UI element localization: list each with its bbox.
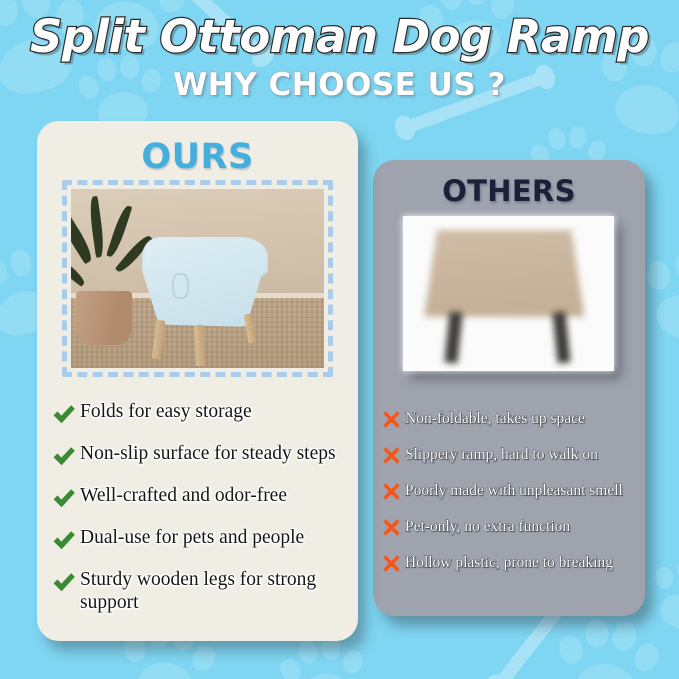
ours-heading: OURS xyxy=(37,137,358,177)
list-item: Folds for easy storage xyxy=(51,400,348,428)
list-item-label: Hollow plastic, prone to breaking xyxy=(405,551,613,572)
list-item: Slippery ramp, hard to walk on xyxy=(381,443,639,466)
page-subtitle: WHY CHOOSE US ? xyxy=(0,70,679,101)
page-title: Split Ottoman Dog Ramp xyxy=(0,14,679,59)
list-item: Non-slip surface for steady steps xyxy=(51,442,348,470)
check-mark-icon xyxy=(51,526,77,554)
list-item: Sturdy wooden legs for strong support xyxy=(51,568,348,614)
list-item-label: Slippery ramp, hard to walk on xyxy=(405,443,598,464)
check-mark-icon xyxy=(51,568,77,596)
list-item: Well-crafted and odor-free xyxy=(51,484,348,512)
list-item-label: Non-foldable, takes up space xyxy=(405,407,585,428)
others-ottoman-body xyxy=(424,230,584,317)
ours-panel: OURS xyxy=(37,121,358,641)
others-product-photo xyxy=(403,216,614,371)
list-item: Hollow plastic, prone to breaking xyxy=(381,551,639,574)
list-item: Non-foldable, takes up space xyxy=(381,407,639,430)
list-item-label: Folds for easy storage xyxy=(80,400,252,423)
plant-pot xyxy=(76,291,132,345)
list-item: Dual-use for pets and people xyxy=(51,526,348,554)
cross-mark-icon xyxy=(381,515,402,538)
list-item-label: Sturdy wooden legs for strong support xyxy=(80,568,348,614)
ours-feature-list: Folds for easy storage Non-slip surface … xyxy=(51,400,348,628)
cross-mark-icon xyxy=(381,479,402,502)
list-item-label: Pet-only, no extra function xyxy=(405,515,570,536)
cross-mark-icon xyxy=(381,443,402,466)
check-mark-icon xyxy=(51,442,77,470)
list-item-label: Non-slip surface for steady steps xyxy=(80,442,336,465)
others-heading: OTHERS xyxy=(373,174,645,208)
list-item-label: Poorly made with unpleasant smell xyxy=(405,479,623,500)
paw-print-icon xyxy=(551,613,664,679)
list-item: Pet-only, no extra function xyxy=(381,515,639,538)
list-item-label: Well-crafted and odor-free xyxy=(80,484,287,507)
header: Split Ottoman Dog Ramp WHY CHOOSE US ? xyxy=(0,14,679,101)
list-item-label: Dual-use for pets and people xyxy=(80,526,304,549)
ours-product-photo xyxy=(62,180,333,377)
list-item: Poorly made with unpleasant smell xyxy=(381,479,639,502)
ottoman-handle xyxy=(172,273,189,298)
others-feature-list: Non-foldable, takes up space Slippery ra… xyxy=(381,407,639,587)
others-ottoman-leg xyxy=(445,312,463,364)
others-panel: OTHERS Non-foldable, takes up space Slip… xyxy=(373,160,645,616)
comparison-infographic: Split Ottoman Dog Ramp WHY CHOOSE US ? O… xyxy=(0,0,679,679)
others-ottoman-leg xyxy=(552,312,570,364)
cross-mark-icon xyxy=(381,551,402,574)
cross-mark-icon xyxy=(381,407,402,430)
check-mark-icon xyxy=(51,484,77,512)
check-mark-icon xyxy=(51,400,77,428)
